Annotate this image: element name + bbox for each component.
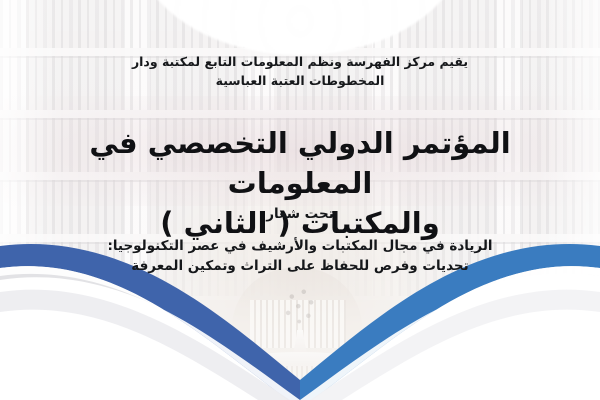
- organizer-line-2: المخطوطات العتبة العباسية: [60, 71, 540, 90]
- slogan-label: تحت شعار: [0, 206, 600, 222]
- page-title: المؤتمر الدولي التخصصي في المعلومات والم…: [20, 123, 580, 243]
- conference-poster: يقيم مركز الفهرسة ونظم المعلومات التابع …: [0, 0, 600, 400]
- organizer-statement: يقيم مركز الفهرسة ونظم المعلومات التابع …: [60, 52, 540, 90]
- slogan-line-2: تحديات وفرص للحفاظ على التراث وتمكين الم…: [40, 256, 560, 276]
- organizer-line-1: يقيم مركز الفهرسة ونظم المعلومات التابع …: [60, 52, 540, 71]
- poster-content: يقيم مركز الفهرسة ونظم المعلومات التابع …: [0, 0, 600, 400]
- slogan-line-1: الريادة في مجال المكتبات والأرشيف في عصر…: [40, 236, 560, 256]
- conference-title-line-1: المؤتمر الدولي التخصصي في المعلومات: [20, 123, 580, 203]
- slogan-text: الريادة في مجال المكتبات والأرشيف في عصر…: [40, 236, 560, 276]
